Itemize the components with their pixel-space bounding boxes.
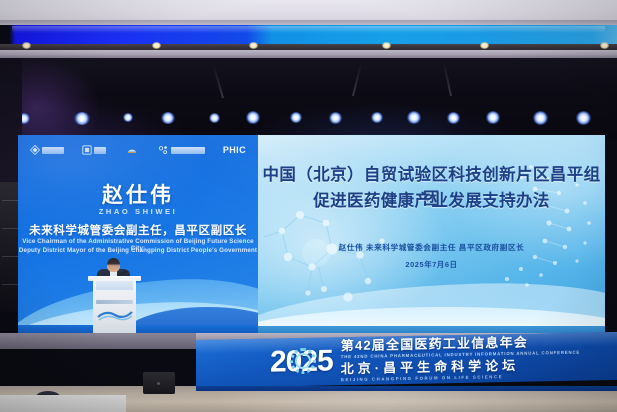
speaker-name-en: ZHAO SHIWEI bbox=[18, 207, 258, 216]
led-screen-right: 中国（北京）自贸试验区科技创新片区昌平组团 促进医药健康产业发展支持办法 赵仕伟… bbox=[258, 135, 605, 335]
spotlight-6 bbox=[290, 112, 302, 123]
spotlight-11 bbox=[486, 111, 500, 124]
led-screen-left: PHIC 赵仕伟 ZHAO SHIWEI 未来科学城管委会副主任，昌平区副区长 … bbox=[18, 135, 258, 335]
spotlight-9 bbox=[407, 111, 421, 124]
spotlight-4 bbox=[209, 113, 220, 123]
logo-3 bbox=[124, 145, 140, 155]
logo-2-wordmark bbox=[94, 147, 106, 154]
stage-deck-left bbox=[0, 333, 196, 349]
banner-text-block: 第42届全国医药工业信息年会 THE 42ND CHINA PHARMACEUT… bbox=[341, 335, 580, 384]
banner-year: 2025 bbox=[270, 346, 333, 377]
downlight-2 bbox=[152, 42, 161, 49]
spotlight-1 bbox=[74, 112, 90, 125]
speaker-head bbox=[107, 258, 120, 272]
downlight-1 bbox=[22, 42, 31, 49]
spotlight-3 bbox=[161, 112, 175, 124]
spotlight-8 bbox=[371, 112, 383, 123]
presentation-date: 2025年7月6日 bbox=[258, 259, 605, 270]
logo-4-cpiic bbox=[158, 145, 205, 155]
molecule-logo-icon bbox=[158, 145, 169, 155]
spotlight-12 bbox=[533, 111, 548, 125]
foreground-white-panel bbox=[0, 395, 126, 412]
spotlight-2 bbox=[123, 113, 133, 122]
sponsor-logo-row: PHIC bbox=[30, 143, 246, 157]
conference-stage-photo: PHIC 赵仕伟 ZHAO SHIWEI 未来科学城管委会副主任，昌平区副区长 … bbox=[0, 0, 617, 412]
rack-line-1 bbox=[2, 200, 18, 201]
valance-gloss bbox=[12, 26, 604, 33]
policy-title-line2: 促进医药健康产业发展支持办法 bbox=[258, 187, 605, 211]
logo-4-wordmark bbox=[171, 147, 205, 154]
spotlight-10 bbox=[447, 112, 460, 124]
downlight-4 bbox=[382, 42, 391, 49]
stage-front-banner: 2025 第42届全国医药工业信息年会 THE 42ND CHINA PHARM… bbox=[196, 332, 617, 388]
spotlight-13 bbox=[576, 111, 591, 125]
building-logo-icon bbox=[124, 145, 140, 155]
logo-1-wordmark bbox=[42, 147, 64, 154]
spotlight-7 bbox=[329, 112, 342, 124]
logo-2 bbox=[82, 145, 106, 155]
presenter-line: 赵仕伟 未来科学城管委会副主任 昌平区政府副区长 bbox=[258, 242, 605, 253]
podium-nameplate bbox=[96, 281, 133, 290]
podium-wordmark bbox=[96, 300, 133, 304]
speaker-name-cn: 赵仕伟 bbox=[18, 179, 258, 209]
downlight-6 bbox=[600, 42, 609, 49]
rack-line-3 bbox=[2, 256, 18, 257]
equipment-latch bbox=[157, 382, 160, 385]
banner-bottom-edge bbox=[196, 386, 617, 391]
rack-line-2 bbox=[2, 228, 18, 229]
speaker-role-cn: 未来科学城管委会副主任，昌平区副区长 bbox=[18, 222, 258, 238]
speaker-role-en-line2: Deputy District Mayor of the Beijing Cha… bbox=[18, 247, 258, 254]
downlight-5 bbox=[480, 42, 489, 49]
spotlight-5 bbox=[246, 111, 260, 124]
logo-5-phic: PHIC bbox=[223, 145, 246, 155]
phic-wordmark: PHIC bbox=[223, 145, 246, 155]
podium-wave-logo-icon bbox=[97, 308, 133, 322]
diamond-logo-icon bbox=[30, 145, 40, 155]
logo-1 bbox=[30, 145, 64, 155]
downlight-3 bbox=[249, 42, 258, 49]
rack-line-4 bbox=[2, 284, 18, 285]
square-logo-icon bbox=[82, 145, 92, 155]
banner-content: 2025 第42届全国医药工业信息年会 THE 42ND CHINA PHARM… bbox=[196, 332, 617, 388]
